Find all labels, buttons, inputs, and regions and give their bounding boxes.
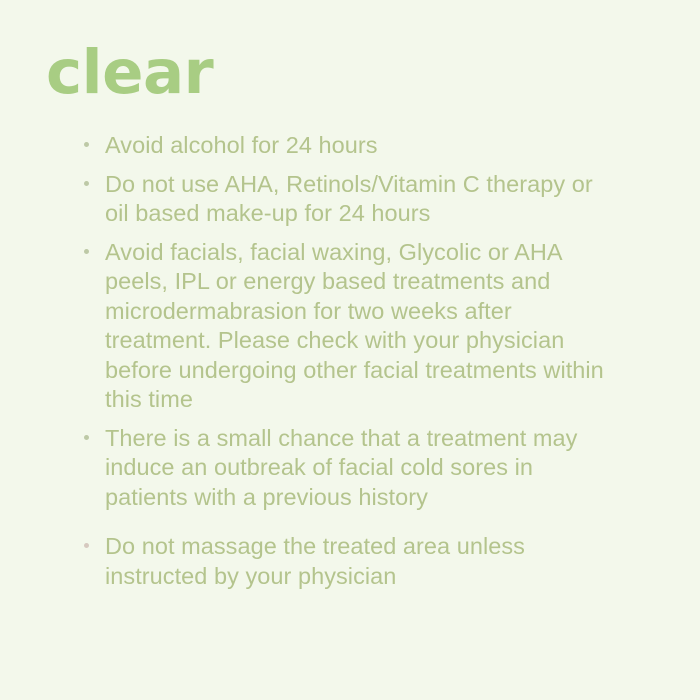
page-title: clear (46, 42, 213, 103)
list-item: There is a small chance that a treatment… (78, 424, 618, 513)
list-item-label: Do not use AHA, Retinols/Vitamin C thera… (105, 170, 618, 229)
list-item-label: Avoid facials, facial waxing, Glycolic o… (105, 238, 618, 415)
bullet-dot-icon (84, 435, 89, 440)
list-item: Avoid alcohol for 24 hours (78, 131, 618, 161)
list-item-label: Avoid alcohol for 24 hours (105, 131, 618, 161)
bullet-dot-icon (84, 142, 89, 147)
advice-list: Avoid alcohol for 24 hours Do not use AH… (78, 131, 618, 591)
list-item-label: Do not massage the treated area unless i… (105, 532, 618, 591)
bullet-dot-icon (84, 181, 89, 186)
list-item: Do not use AHA, Retinols/Vitamin C thera… (78, 170, 618, 229)
list-item: Do not massage the treated area unless i… (78, 532, 618, 591)
bullet-dot-icon (84, 543, 89, 548)
bullet-dot-icon (84, 249, 89, 254)
aftercare-slide: clear Avoid alcohol for 24 hours Do not … (0, 0, 700, 700)
list-item-label: There is a small chance that a treatment… (105, 424, 618, 513)
list-item: Avoid facials, facial waxing, Glycolic o… (78, 238, 618, 415)
